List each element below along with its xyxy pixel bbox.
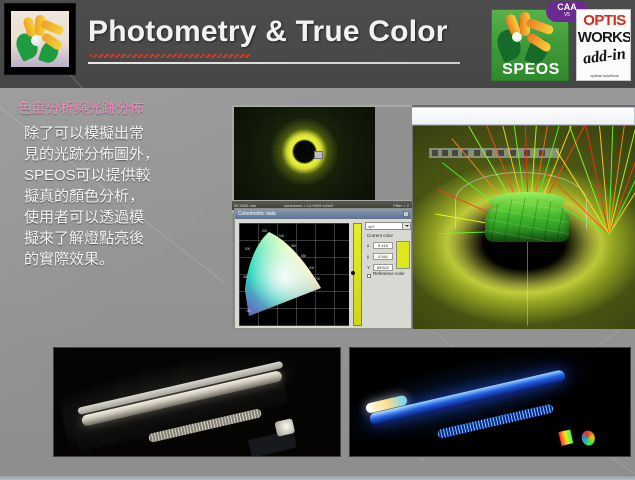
body-line: SPEOS可以提供較	[24, 165, 228, 186]
logo-sphere	[31, 35, 42, 46]
section-body: 除了可以模擬出常 見的光跡分佈圖外， SPEOS可以提供較 擬真的顏色分析， 使…	[10, 118, 228, 270]
render-icon[interactable]	[486, 150, 492, 156]
svg-text:540: 540	[279, 234, 285, 238]
speos-app-icon	[4, 3, 76, 75]
software-screenshot-composite: 59.3455 mm luminance = 14.9009 cd/m2 Fil…	[232, 105, 635, 329]
colorspace-dropdown-value: xyY	[368, 223, 375, 230]
zoom-out-icon[interactable]	[442, 150, 448, 156]
body-line: 見的光跡分佈圖外，	[24, 144, 228, 165]
field-label-y: y	[367, 253, 369, 260]
field-label-x: x	[367, 242, 369, 249]
slide-header: Photometry & True Color SPEOS CAA V5 OPT…	[0, 0, 635, 88]
luminance-scale-bar[interactable]	[353, 223, 362, 326]
photometry-window: 59.3455 mm luminance = 14.9009 cd/m2 Fil…	[232, 105, 412, 213]
speos-wordmark: SPEOS	[492, 61, 569, 79]
slide: Photometry & True Color SPEOS CAA V5 OPT…	[0, 0, 635, 480]
falsecolor-hotspot-2	[580, 429, 596, 447]
optis-tagline: optical solutions	[577, 73, 631, 78]
close-icon[interactable]	[403, 211, 409, 217]
pan-icon[interactable]	[452, 150, 458, 156]
svg-text:500: 500	[245, 247, 251, 251]
addin-script-text: add-in	[576, 45, 631, 70]
colorimetric-data-dialog: Colorimetric data	[234, 208, 412, 329]
page-title: Photometry & True Color	[88, 14, 468, 50]
reference-color-checkbox[interactable]	[367, 274, 371, 278]
field-label-Y: Y	[367, 264, 370, 271]
title-underline-rule	[88, 62, 460, 64]
colorspace-dropdown[interactable]: xyY	[365, 222, 411, 230]
svg-text:700: 700	[315, 277, 321, 281]
spellcheck-underline	[90, 54, 250, 58]
scale-bar-marker[interactable]	[351, 271, 355, 275]
svg-text:600: 600	[309, 266, 315, 270]
svg-text:480: 480	[243, 275, 249, 279]
chevron-down-icon[interactable]	[402, 223, 410, 229]
falsecolor-hotspot-1	[558, 429, 573, 445]
svg-text:460: 460	[246, 309, 252, 313]
slide-bottom-rule	[0, 476, 635, 480]
raytrace-toolbar[interactable]	[429, 148, 559, 158]
color-values-panel: xyY Current color x 0.419 y 0.541 Y 69.6…	[365, 222, 411, 328]
sensor-noise-overlay	[234, 107, 375, 200]
title-block: Photometry & True Color	[88, 14, 468, 50]
body-line: 擬來了解燈點亮後	[24, 228, 228, 249]
svg-text:520: 520	[262, 229, 268, 233]
body-line: 使用者可以透過模	[24, 207, 228, 228]
field-value-y[interactable]: 0.541	[373, 253, 393, 260]
body-line: 擬真的顏色分析，	[24, 186, 228, 207]
body-line: 除了可以模擬出常	[24, 123, 228, 144]
current-color-swatch	[396, 241, 410, 269]
led-optic-facets	[485, 198, 569, 242]
header-sheen	[58, 62, 239, 88]
dialog-titlebar[interactable]: Colorimetric data	[235, 209, 411, 219]
measurement-probe-marker[interactable]	[314, 151, 323, 159]
bottom-left-render	[53, 347, 341, 457]
cie-horseshoe-gamut: 520540560 580600700 500480460	[243, 228, 335, 322]
optisworks-logo: OPTIS WORKS add-in optical solutions	[576, 9, 631, 81]
raytrace-pane	[399, 105, 635, 329]
svg-text:560: 560	[291, 244, 297, 248]
speos-app-icon-art	[11, 11, 69, 67]
svg-text:580: 580	[301, 254, 307, 258]
raytrace-canvas	[413, 126, 635, 329]
luminance-map-canvas	[234, 107, 375, 200]
works-wordmark: WORKS	[577, 29, 631, 46]
cie-chromaticity-diagram[interactable]: 520540560 580600700 500480460	[239, 223, 349, 326]
speos-sphere	[512, 32, 522, 42]
body-line: 的實際效果。	[24, 249, 228, 270]
fit-icon[interactable]	[474, 150, 480, 156]
current-color-label: Current color	[367, 233, 393, 238]
raytrace-titlebar	[403, 107, 635, 125]
photometry-window-empty-area	[375, 107, 412, 200]
text-column: 色度分析與光跡分佈 除了可以模擬出常 見的光跡分佈圖外， SPEOS可以提供較 …	[10, 98, 228, 270]
zoom-in-icon[interactable]	[432, 150, 438, 156]
field-value-x[interactable]: 0.419	[373, 242, 393, 249]
reference-color-label: Reference color	[373, 271, 405, 276]
optis-wordmark: OPTIS	[577, 12, 631, 29]
bottom-right-falsecolor	[349, 347, 631, 457]
field-value-Y[interactable]: 69.622	[373, 264, 393, 271]
section-heading: 色度分析與光跡分佈	[10, 98, 228, 118]
